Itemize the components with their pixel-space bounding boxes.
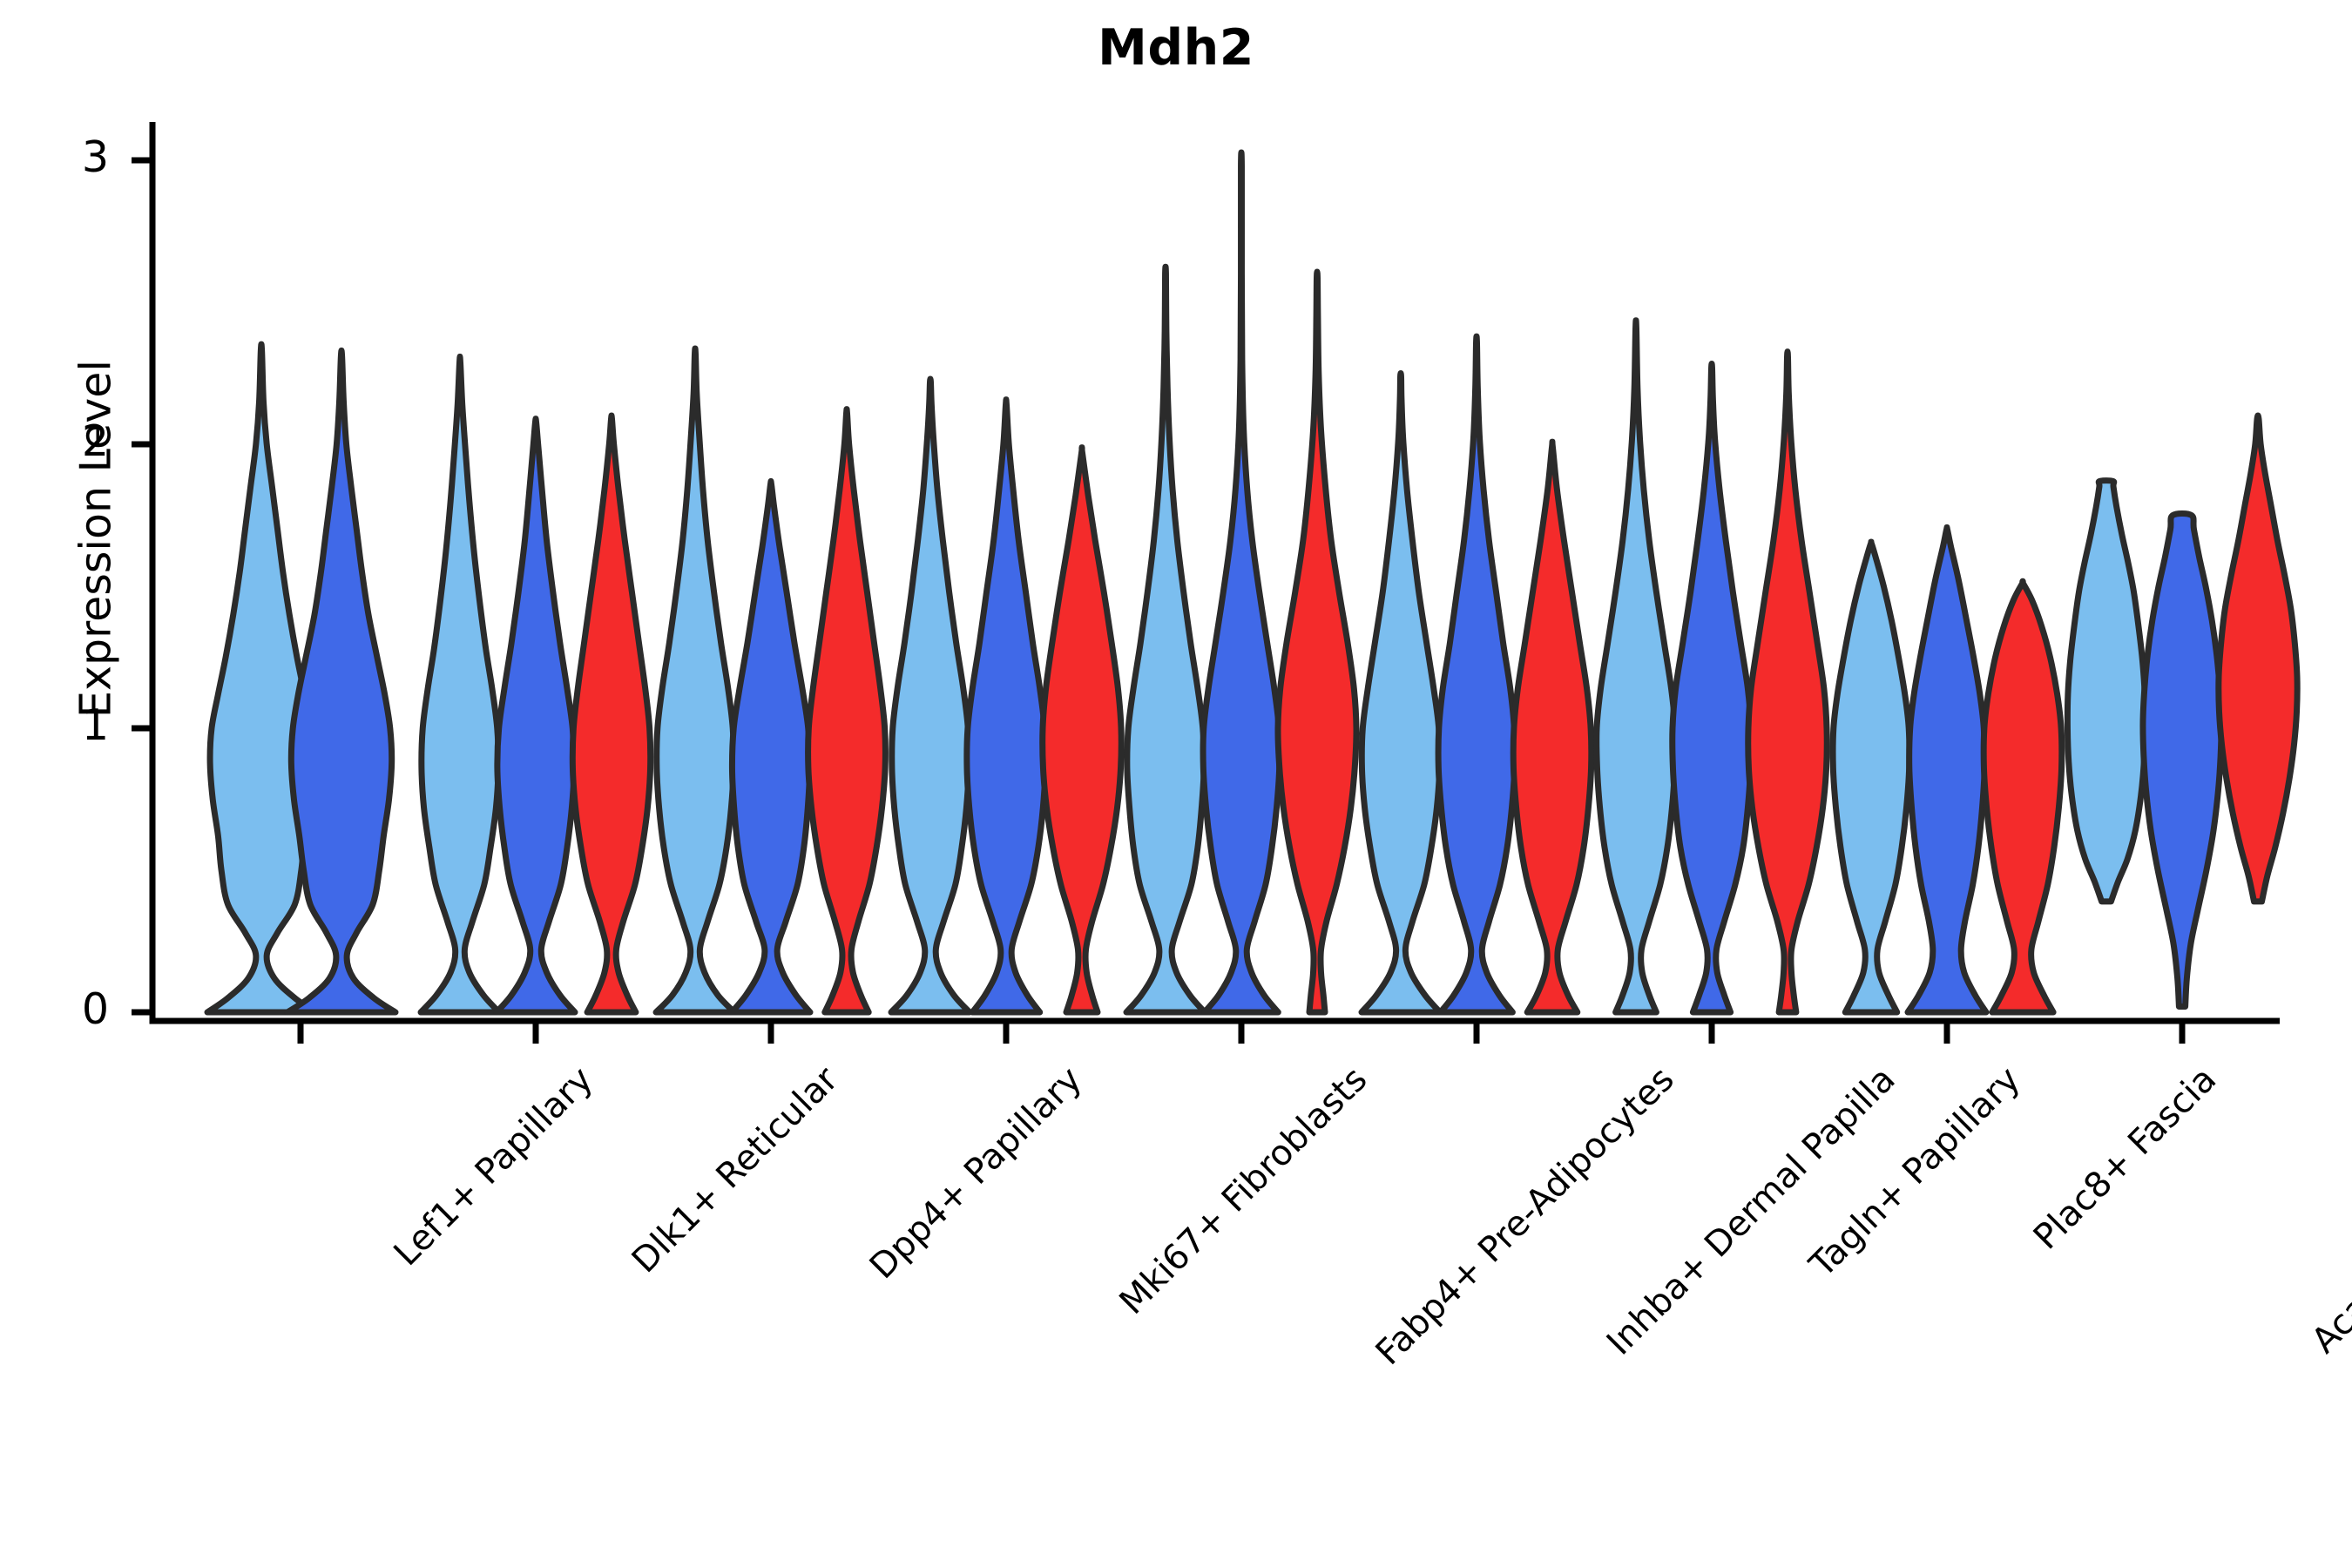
violin-group — [207, 152, 2297, 1012]
violin-26 — [2219, 416, 2297, 902]
violin-3 — [421, 356, 499, 1012]
violin-10 — [967, 400, 1045, 1012]
violin-12 — [1126, 267, 1205, 1012]
violin-22 — [1908, 527, 1986, 1012]
violin-11 — [1043, 448, 1122, 1012]
violin-6 — [656, 348, 734, 1012]
violin-17 — [1513, 442, 1592, 1012]
violin-2 — [287, 350, 395, 1012]
violin-21 — [1833, 542, 1909, 1012]
violin-4 — [497, 419, 575, 1012]
violin-23 — [1984, 581, 2062, 1012]
violin-13 — [1203, 152, 1280, 1012]
violin-25 — [2143, 513, 2221, 1006]
violin-7 — [732, 481, 810, 1012]
violin-8 — [808, 409, 886, 1012]
violin-5 — [572, 416, 650, 1012]
plot-canvas — [0, 0, 2352, 1568]
violin-20 — [1748, 352, 1828, 1012]
violin-15 — [1362, 373, 1440, 1012]
violin-16 — [1438, 336, 1515, 1012]
violin-18 — [1597, 321, 1676, 1012]
violin-14 — [1278, 272, 1356, 1012]
violin-24 — [2067, 481, 2145, 902]
violin-19 — [1673, 363, 1752, 1012]
violin-plot-figure: Mdh2 Expression Level 0123 Lef1+ Papilla… — [0, 0, 2352, 1568]
violin-9 — [891, 379, 970, 1012]
